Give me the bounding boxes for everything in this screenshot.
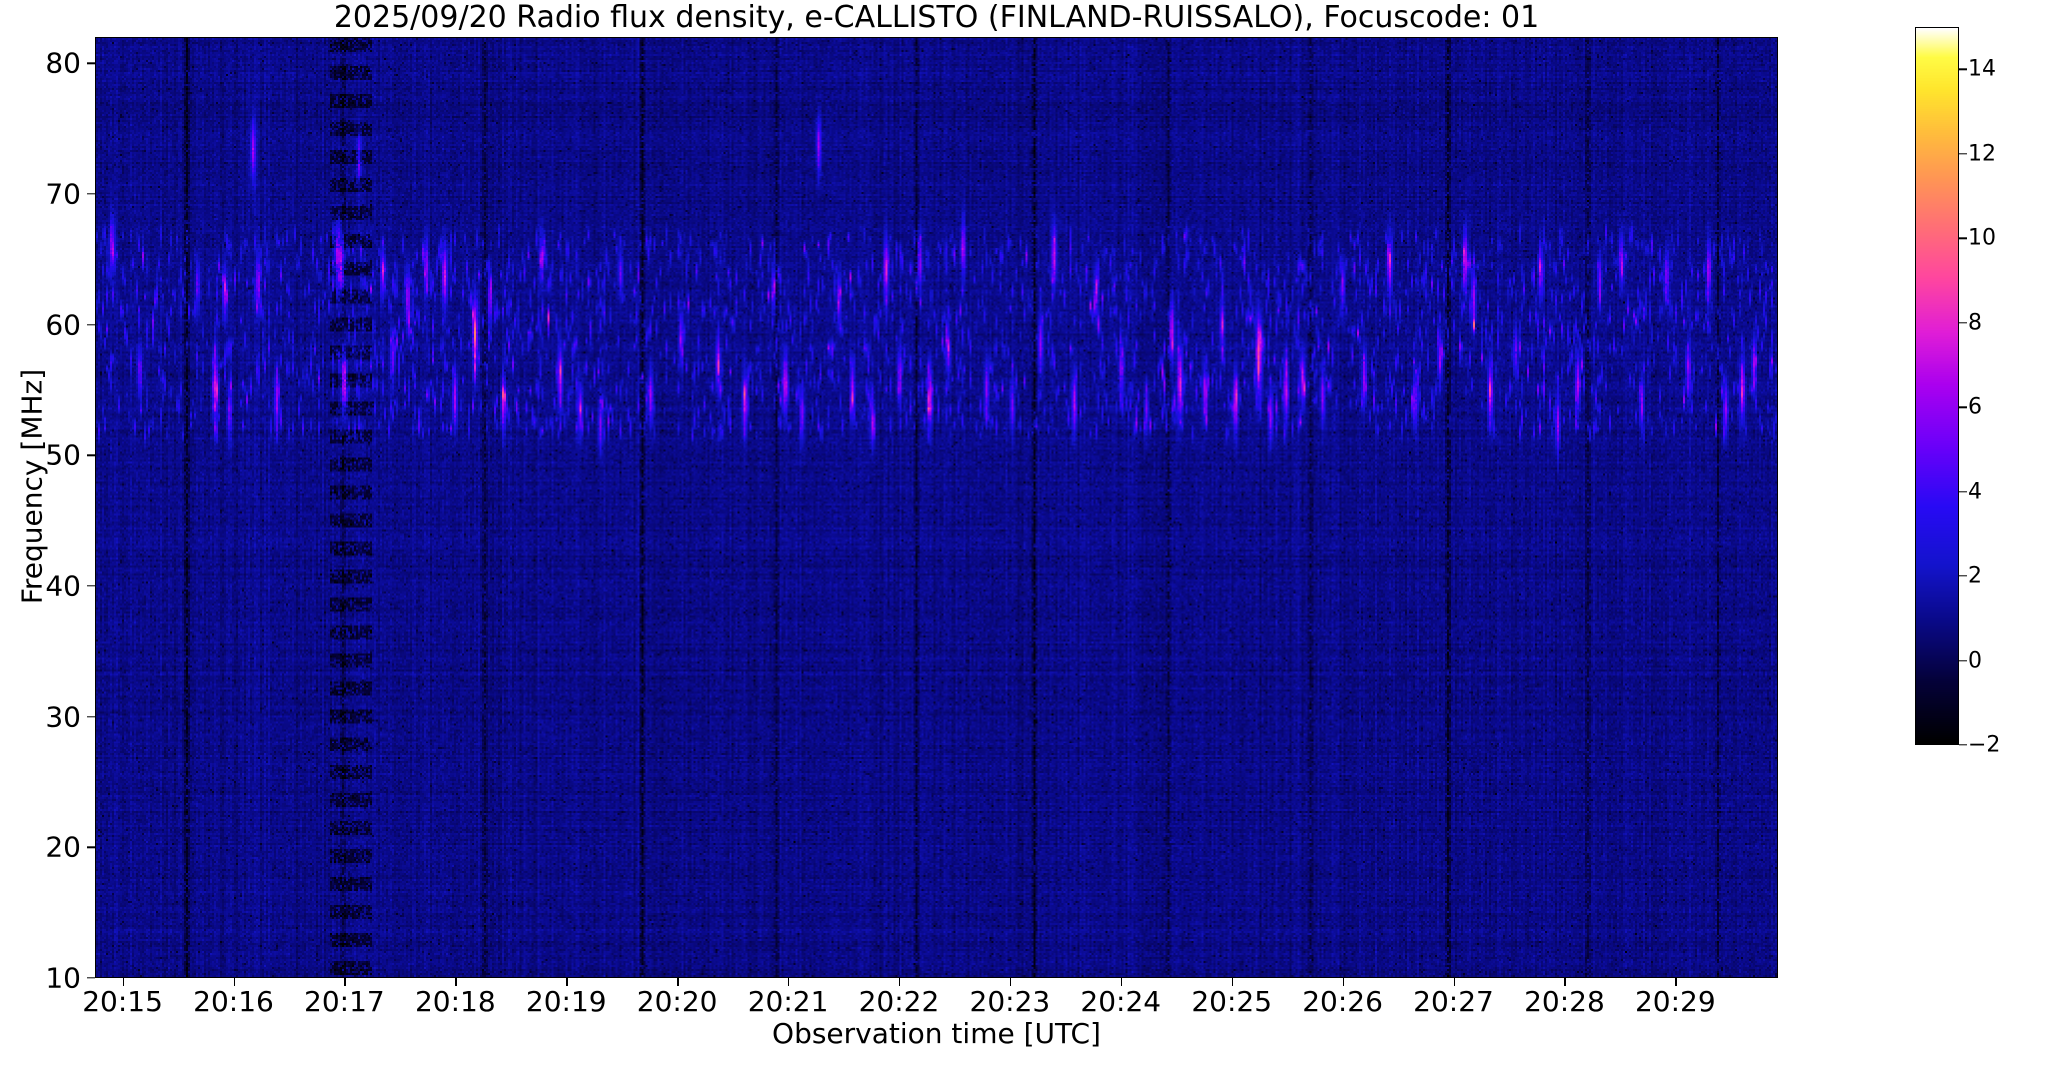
- y-tick-label: 50: [0, 439, 81, 472]
- y-tick-mark: [87, 193, 95, 194]
- y-tick-mark: [87, 847, 95, 848]
- y-tick-label: 40: [0, 569, 81, 602]
- spectrogram-figure: 2025/09/20 Radio flux density, e-CALLIST…: [0, 0, 2047, 1067]
- colorbar-tick-label: 10: [1968, 226, 1996, 251]
- x-tick-mark: [1454, 978, 1455, 986]
- x-tick-label: 20:29: [1585, 985, 1765, 1018]
- x-tick-mark: [899, 978, 900, 986]
- x-tick-mark: [1343, 978, 1344, 986]
- colorbar-tick-label: 12: [1968, 141, 1996, 166]
- colorbar-tick-label: 2: [1968, 564, 1982, 589]
- colorbar-tick-mark: [1959, 491, 1967, 492]
- colorbar-tick-label: 0: [1968, 648, 1982, 673]
- spectrogram-axes: [95, 37, 1778, 978]
- y-tick-label: 60: [0, 308, 81, 341]
- colorbar-tick-label: 14: [1968, 57, 1996, 82]
- colorbar-tick-mark: [1959, 660, 1967, 661]
- y-tick-label: 70: [0, 177, 81, 210]
- colorbar-tick-mark: [1959, 744, 1967, 745]
- spectrogram-image: [96, 38, 1777, 977]
- colorbar-gradient: [1916, 28, 1958, 744]
- x-tick-mark: [123, 978, 124, 986]
- x-tick-mark: [344, 978, 345, 986]
- spectrogram-canvas: [96, 38, 1777, 977]
- colorbar-tick-mark: [1959, 237, 1967, 238]
- x-tick-mark: [234, 978, 235, 986]
- colorbar-tick-mark: [1959, 153, 1967, 154]
- y-tick-mark: [87, 977, 95, 978]
- colorbar-tick-mark: [1959, 69, 1967, 70]
- x-tick-mark: [455, 978, 456, 986]
- y-axis-label: Frequency [MHz]: [16, 37, 49, 937]
- colorbar-tick-label: −2: [1968, 733, 2000, 758]
- x-tick-mark: [1232, 978, 1233, 986]
- y-tick-mark: [87, 716, 95, 717]
- y-tick-label: 80: [0, 47, 81, 80]
- y-tick-mark: [87, 324, 95, 325]
- colorbar-tick-mark: [1959, 406, 1967, 407]
- x-axis-label: Observation time [UTC]: [95, 1017, 1778, 1050]
- colorbar-canvas: [1916, 28, 1958, 744]
- chart-title: 2025/09/20 Radio flux density, e-CALLIST…: [95, 2, 1778, 34]
- colorbar-tick-mark: [1959, 575, 1967, 576]
- y-tick-label: 30: [0, 700, 81, 733]
- colorbar-tick-mark: [1959, 322, 1967, 323]
- x-tick-mark: [1121, 978, 1122, 986]
- x-tick-mark: [677, 978, 678, 986]
- y-tick-mark: [87, 455, 95, 456]
- y-tick-mark: [87, 62, 95, 63]
- x-tick-mark: [1564, 978, 1565, 986]
- colorbar-tick-label: 4: [1968, 479, 1982, 504]
- x-tick-mark: [788, 978, 789, 986]
- x-tick-mark: [1675, 978, 1676, 986]
- x-tick-mark: [1010, 978, 1011, 986]
- colorbar-tick-label: 8: [1968, 310, 1982, 335]
- colorbar-tick-label: 6: [1968, 395, 1982, 420]
- x-tick-mark: [566, 978, 567, 986]
- y-tick-mark: [87, 585, 95, 586]
- colorbar: [1915, 27, 1959, 745]
- y-tick-label: 20: [0, 831, 81, 864]
